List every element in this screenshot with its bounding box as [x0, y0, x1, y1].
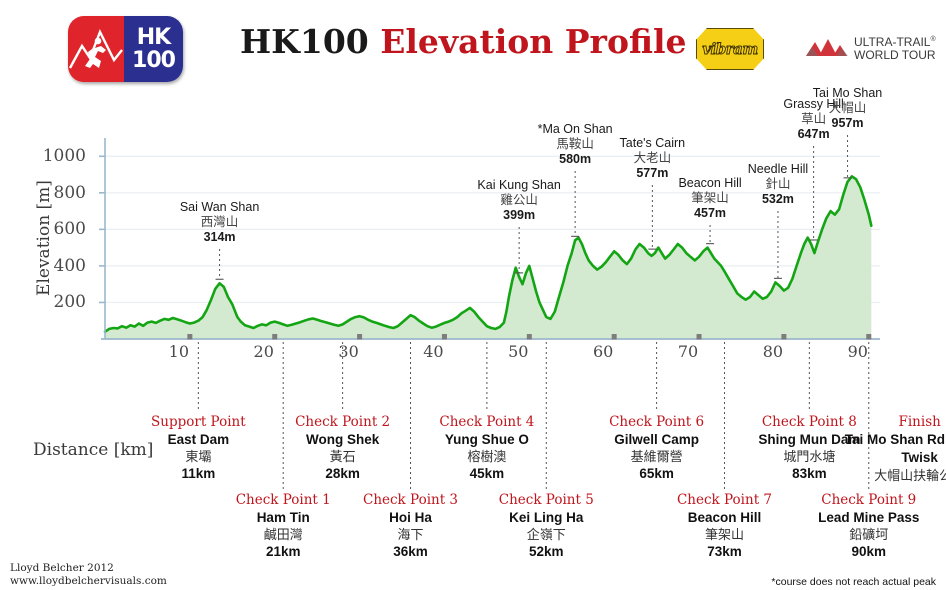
y-tick-label-600: 600 [28, 219, 86, 239]
peak-name-en: *Ma On Shan [515, 122, 635, 137]
utwt-mountain-icon [806, 36, 850, 60]
peak-elevation: 957m [788, 116, 908, 131]
peak-footnote: *course does not reach actual peak [771, 576, 936, 588]
peak-annotation-tate-s-cairn: Tate's Cairn大老山577m [592, 136, 712, 181]
peak-name-zh: 雞公山 [459, 193, 579, 208]
utwt-line1: ULTRA-TRAIL [854, 35, 930, 49]
checkpoint-name-en: Tai Mo Shan Rd / Route Twisk [835, 431, 946, 467]
checkpoint-check-point-4[interactable]: Check Point 4Yung Shue O榕樹澳45km [402, 414, 572, 482]
credit-author: Lloyd Belcher 2012 [10, 562, 167, 575]
hk100-runner-graphic [68, 16, 124, 82]
checkpoint-check-point-6[interactable]: Check Point 6Gilwell Camp基維爾營65km [572, 414, 742, 482]
header: HK 100 HK100 Elevation Profile vibram UL… [0, 0, 946, 100]
checkpoint-title: Check Point 9 [784, 492, 946, 509]
ultra-trail-world-tour-logo: ULTRA-TRAIL® WORLD TOUR [806, 32, 938, 66]
checkpoint-distance: 45km [402, 465, 572, 482]
peak-name-zh: 西灣山 [160, 215, 280, 230]
peak-annotation-needle-hill: Needle Hill針山532m [718, 162, 838, 207]
checkpoint-title: Check Point 6 [572, 414, 742, 431]
checkpoint-distance: 52km [461, 543, 631, 560]
checkpoint-distance: 65km [572, 465, 742, 482]
utwt-line2: WORLD TOUR [854, 49, 936, 62]
checkpoint-check-point-9[interactable]: Check Point 9Lead Mine Pass鉛礦坷90km [784, 492, 946, 560]
checkpoint-name-en: Yung Shue O [402, 431, 572, 448]
y-tick-label-400: 400 [28, 256, 86, 276]
credit-website[interactable]: www.lloydbelchervisuals.com [10, 575, 167, 588]
peak-elevation: 399m [459, 208, 579, 223]
checkpoint-distance: 90km [784, 543, 946, 560]
peak-elevation: 314m [160, 230, 280, 245]
peak-annotation-tai-mo-shan: Tai Mo Shan大帽山957m [788, 86, 908, 131]
peak-elevation: 532m [718, 192, 838, 207]
checkpoint-name-zh: 大帽山扶輪公園 [835, 467, 946, 484]
checkpoint-name-zh: 企嶺下 [461, 526, 631, 543]
checkpoint-name-zh: 基維爾營 [572, 448, 742, 465]
peak-name-en: Kai Kung Shan [459, 178, 579, 193]
peak-annotation-kai-kung-shan: Kai Kung Shan雞公山399m [459, 178, 579, 223]
elevation-chart: Elevation [m] Distance [km] 200400600800… [0, 100, 946, 360]
checkpoint-title: Check Point 4 [402, 414, 572, 431]
hk100-logo: HK 100 [68, 16, 183, 82]
y-tick-label-1000: 1000 [28, 146, 86, 166]
checkpoint-title: Check Point 5 [461, 492, 631, 509]
checkpoint-name-en: Kei Ling Ha [461, 509, 631, 526]
peak-elevation: 457m [650, 206, 770, 221]
credit-block: Lloyd Belcher 2012 www.lloydbelchervisua… [10, 562, 167, 588]
peak-name-zh: 大帽山 [788, 101, 908, 116]
hk100-logo-line2: 100 [132, 50, 175, 72]
page-title: HK100 Elevation Profile [240, 22, 686, 61]
runner-mountain-icon [68, 16, 124, 82]
checkpoint-name-zh: 榕樹澳 [402, 448, 572, 465]
page-title-part2: Elevation Profile [380, 22, 686, 61]
checkpoint-check-point-5[interactable]: Check Point 5Kei Ling Ha企嶺下52km [461, 492, 631, 560]
checkpoint-name-zh: 鉛礦坷 [784, 526, 946, 543]
y-tick-marks [99, 156, 105, 302]
checkpoint-name-en: Gilwell Camp [572, 431, 742, 448]
peak-name-zh: 針山 [718, 177, 838, 192]
checkpoint-title: Finish [835, 414, 946, 431]
utwt-wordmark: ULTRA-TRAIL® WORLD TOUR [854, 33, 936, 62]
utwt-registered-mark: ® [930, 36, 935, 43]
peak-name-en: Tai Mo Shan [788, 86, 908, 101]
y-tick-label-200: 200 [28, 292, 86, 312]
page-title-part1: HK100 [240, 22, 380, 61]
checkpoint-name-en: Lead Mine Pass [784, 509, 946, 526]
y-tick-label-800: 800 [28, 183, 86, 203]
vibram-logo: vibram [696, 28, 764, 70]
hk100-wordmark: HK 100 [124, 16, 183, 82]
peak-name-zh: 大老山 [592, 151, 712, 166]
peak-annotation-sai-wan-shan: Sai Wan Shan西灣山314m [160, 200, 280, 245]
peak-name-en: Needle Hill [718, 162, 838, 177]
hk100-logo-line1: HK [137, 27, 170, 49]
peak-name-en: Sai Wan Shan [160, 200, 280, 215]
checkpoint-finish[interactable]: FinishTai Mo Shan Rd / Route Twisk大帽山扶輪公… [835, 414, 946, 484]
peak-name-en: Tate's Cairn [592, 136, 712, 151]
vibram-logo-label: vibram [702, 40, 757, 58]
